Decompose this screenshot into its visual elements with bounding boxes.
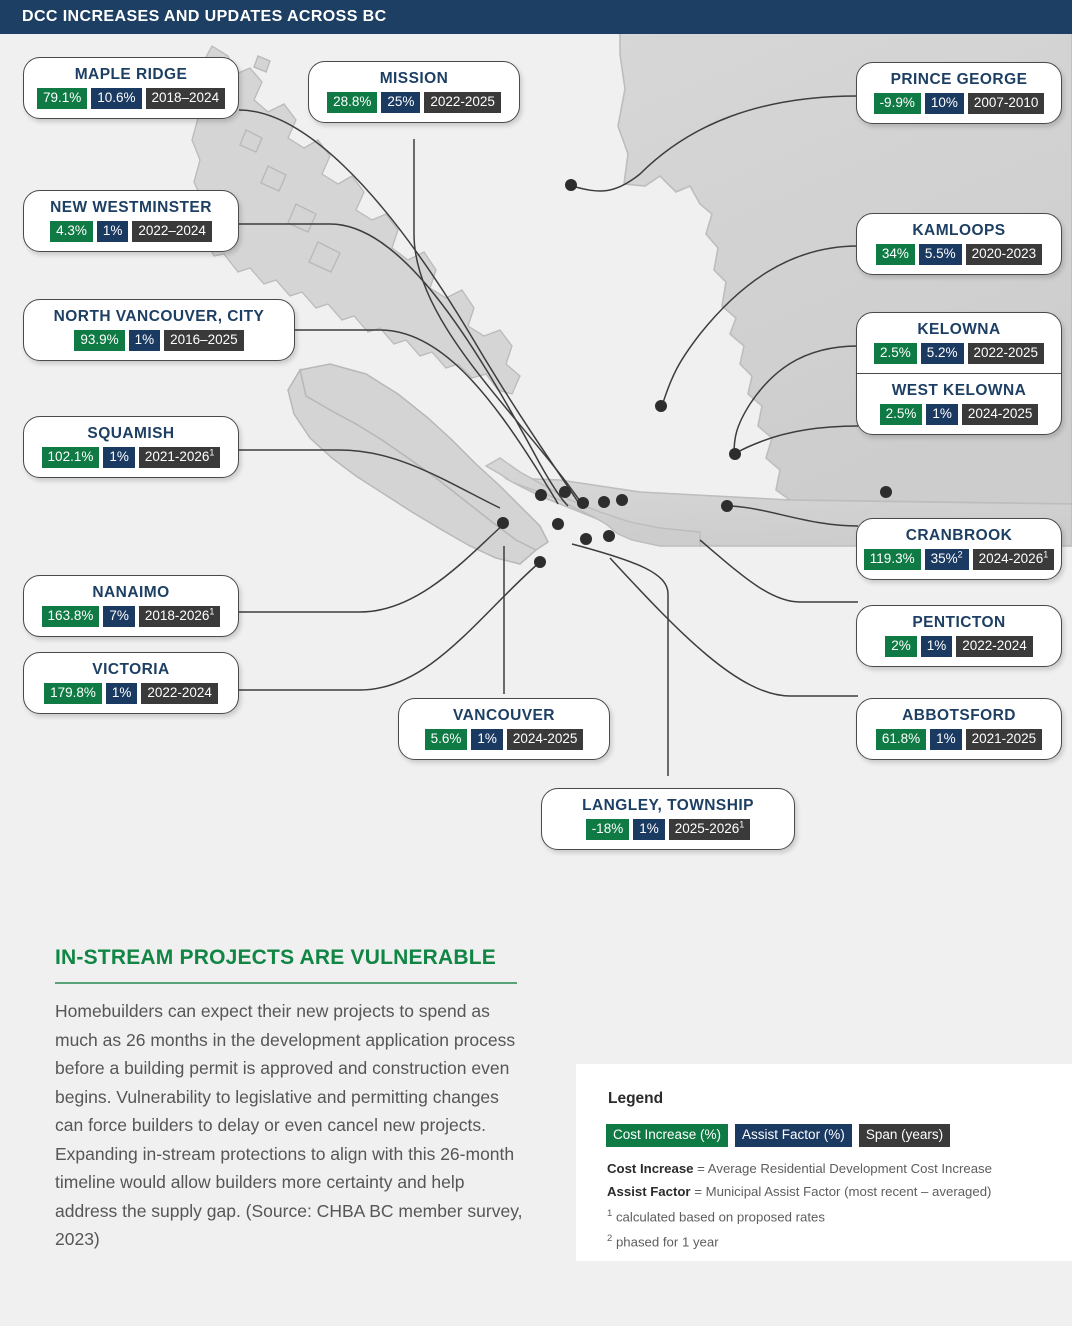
- footnote-marker: 2: [958, 550, 963, 560]
- card-maple-ridge[interactable]: MAPLE RIDGE 79.1% 10.6% 2018–2024: [23, 57, 239, 119]
- card-chips: 163.8% 7% 2018-20261: [38, 606, 224, 627]
- footnote-marker: 1: [739, 820, 744, 830]
- map-dot-e: [616, 494, 628, 506]
- cost-increase-chip: 2.5%: [880, 404, 923, 425]
- card-chips: 4.3% 1% 2022–2024: [38, 221, 224, 242]
- card-abbotsford[interactable]: ABBOTSFORD 61.8% 1% 2021-2025: [856, 698, 1062, 760]
- map-dot-d: [598, 496, 610, 508]
- map-dot-langley: [603, 530, 615, 542]
- card-title: KELOWNA: [871, 320, 1047, 339]
- legend-title: Legend: [608, 1090, 663, 1108]
- map-dot-cranbrook-b: [880, 486, 892, 498]
- span-chip: 2024-2025: [507, 729, 584, 750]
- cost-increase-chip: 34%: [876, 244, 915, 265]
- map-dot-vancouver: [552, 518, 564, 530]
- assist-factor-chip: 7%: [103, 606, 135, 627]
- legend-panel: Legend Cost Increase (%) Assist Factor (…: [576, 1064, 1072, 1261]
- span-chip: 2025-20261: [669, 819, 751, 840]
- cost-increase-chip: 163.8%: [42, 606, 100, 627]
- cost-increase-chip: 93.9%: [74, 330, 124, 351]
- assist-factor-chip: 1%: [106, 683, 138, 704]
- card-langley-township[interactable]: LANGLEY, TOWNSHIP -18% 1% 2025-20261: [541, 788, 795, 850]
- card-title: PRINCE GEORGE: [871, 70, 1047, 89]
- span-chip: 2022–2024: [132, 221, 212, 242]
- legend-footnote-2: 2 phased for 1 year: [607, 1228, 1057, 1253]
- span-chip: 2024-2025: [962, 404, 1039, 425]
- legend-def-cost-increase: Cost Increase = Average Residential Deve…: [607, 1157, 1057, 1180]
- card-title: NANAIMO: [38, 583, 224, 602]
- card-chips: 2% 1% 2022-2024: [871, 636, 1047, 657]
- span-chip: 2007-2010: [968, 93, 1045, 114]
- card-chips: 61.8% 1% 2021-2025: [871, 729, 1047, 750]
- span-chip: 2021-2025: [966, 729, 1043, 750]
- card-chips: 93.9% 1% 2016–2025: [38, 330, 280, 351]
- assist-factor-chip: 5.2%: [921, 343, 964, 364]
- card-title: WEST KELOWNA: [871, 381, 1047, 400]
- assist-factor-chip: 1%: [633, 819, 665, 840]
- assist-factor-chip: 1%: [930, 729, 962, 750]
- map-stage: MAPLE RIDGE 79.1% 10.6% 2018–2024 MISSIO…: [0, 34, 1072, 900]
- span-chip: 2022-2025: [968, 343, 1045, 364]
- card-kamloops[interactable]: KAMLOOPS 34% 5.5% 2020-2023: [856, 213, 1062, 275]
- map-dot-kelowna: [729, 448, 741, 460]
- card-nanaimo[interactable]: NANAIMO 163.8% 7% 2018-20261: [23, 575, 239, 637]
- card-chips: -18% 1% 2025-20261: [556, 819, 780, 840]
- assist-factor-chip: 10.6%: [91, 88, 141, 109]
- map-dot-prince-george: [565, 179, 577, 191]
- assist-factor-chip: 1%: [926, 404, 958, 425]
- card-vancouver[interactable]: VANCOUVER 5.6% 1% 2024-2025: [398, 698, 610, 760]
- assist-factor-chip: 10%: [925, 93, 964, 114]
- legend-footnote-1-text: calculated based on proposed rates: [612, 1209, 825, 1224]
- span-chip: 2021-20261: [139, 447, 221, 468]
- legend-footnote-2-text: phased for 1 year: [612, 1235, 718, 1250]
- cost-increase-chip: 4.3%: [50, 221, 93, 242]
- card-title: MAPLE RIDGE: [38, 65, 224, 84]
- card-chips: -9.9% 10% 2007-2010: [871, 93, 1047, 114]
- card-west-kelowna[interactable]: WEST KELOWNA 2.5% 1% 2024-2025: [857, 373, 1061, 434]
- legend-definitions: Cost Increase = Average Residential Deve…: [607, 1157, 1057, 1254]
- cost-increase-chip: 79.1%: [37, 88, 87, 109]
- map-dot-b: [559, 486, 571, 498]
- card-chips: 28.8% 25% 2022-2025: [323, 92, 505, 113]
- card-title: ABBOTSFORD: [871, 706, 1047, 725]
- footnote-marker: 1: [1043, 550, 1048, 560]
- assist-factor-chip: 1%: [129, 330, 161, 351]
- span-chip: 2018–2024: [146, 88, 226, 109]
- header-bar: DCC INCREASES AND UPDATES ACROSS BC: [0, 0, 1072, 34]
- card-chips: 102.1% 1% 2021-20261: [38, 447, 224, 468]
- card-mission[interactable]: MISSION 28.8% 25% 2022-2025: [308, 61, 520, 123]
- cost-increase-chip: 61.8%: [876, 729, 926, 750]
- legend-def-cost-text: = Average Residential Development Cost I…: [694, 1161, 992, 1176]
- card-title: KAMLOOPS: [871, 221, 1047, 240]
- card-chips: 79.1% 10.6% 2018–2024: [38, 88, 224, 109]
- assist-factor-chip: 1%: [103, 447, 135, 468]
- card-chips: 179.8% 1% 2022-2024: [38, 683, 224, 704]
- assist-factor-chip: 5.5%: [919, 244, 962, 265]
- card-title: NEW WESTMINSTER: [38, 198, 224, 217]
- map-dot-cranbrook: [721, 500, 733, 512]
- legend-def-assist-label: Assist Factor: [607, 1184, 691, 1199]
- legend-footnote-1: 1 calculated based on proposed rates: [607, 1203, 1057, 1228]
- map-dot-c: [577, 497, 589, 509]
- card-kelowna[interactable]: KELOWNA 2.5% 5.2% 2022-2025: [857, 313, 1061, 373]
- card-title: VICTORIA: [38, 660, 224, 679]
- legend-span-chip: Span (years): [859, 1124, 950, 1147]
- legend-chip-row: Cost Increase (%) Assist Factor (%) Span…: [606, 1124, 950, 1147]
- map-dot-victoria: [534, 556, 546, 568]
- span-chip: 2022-2024: [956, 636, 1033, 657]
- cost-increase-chip: 179.8%: [44, 683, 102, 704]
- cost-increase-chip: -18%: [586, 819, 630, 840]
- card-title: PENTICTON: [871, 613, 1047, 632]
- card-penticton[interactable]: PENTICTON 2% 1% 2022-2024: [856, 605, 1062, 667]
- card-title: VANCOUVER: [413, 706, 595, 725]
- legend-cost-increase-chip: Cost Increase (%): [606, 1124, 728, 1147]
- span-chip: 2018-20261: [139, 606, 221, 627]
- card-chips: 2.5% 1% 2024-2025: [871, 404, 1047, 425]
- map-dot-a: [535, 489, 547, 501]
- card-chips: 5.6% 1% 2024-2025: [413, 729, 595, 750]
- cost-increase-chip: 2.5%: [874, 343, 917, 364]
- span-chip: 2022-2025: [424, 92, 501, 113]
- vulnerable-heading: IN-STREAM PROJECTS ARE VULNERABLE: [55, 946, 496, 970]
- bottom-section: IN-STREAM PROJECTS ARE VULNERABLE Homebu…: [0, 900, 1072, 1326]
- cost-increase-chip: 119.3%: [864, 549, 921, 570]
- card-cranbrook[interactable]: CRANBROOK 119.3% 35%2 2024-20261: [856, 518, 1062, 580]
- legend-def-assist-text: = Municipal Assist Factor (most recent –…: [691, 1184, 992, 1199]
- assist-factor-chip: 1%: [471, 729, 503, 750]
- footnote-marker: 1: [209, 607, 214, 617]
- legend-def-cost-label: Cost Increase: [607, 1161, 694, 1176]
- card-title: MISSION: [323, 69, 505, 88]
- cost-increase-chip: 28.8%: [327, 92, 377, 113]
- card-title: LANGLEY, TOWNSHIP: [556, 796, 780, 815]
- card-squamish[interactable]: SQUAMISH 102.1% 1% 2021-20261: [23, 416, 239, 478]
- span-chip: 2022-2024: [141, 683, 218, 704]
- cost-increase-chip: 2%: [885, 636, 917, 657]
- legend-def-assist-factor: Assist Factor = Municipal Assist Factor …: [607, 1180, 1057, 1203]
- footnote-marker: 1: [209, 448, 214, 458]
- assist-factor-chip: 35%2: [925, 549, 969, 570]
- card-title: NORTH VANCOUVER, CITY: [38, 307, 280, 326]
- page-title: DCC INCREASES AND UPDATES ACROSS BC: [22, 8, 387, 26]
- assist-factor-chip: 1%: [97, 221, 129, 242]
- card-chips: 34% 5.5% 2020-2023: [871, 244, 1047, 265]
- vulnerable-body-text: Homebuilders can expect their new projec…: [55, 997, 525, 1254]
- legend-assist-factor-chip: Assist Factor (%): [735, 1124, 852, 1147]
- card-north-vancouver-city[interactable]: NORTH VANCOUVER, CITY 93.9% 1% 2016–2025: [23, 299, 295, 361]
- map-dot-nanaimo: [497, 517, 509, 529]
- card-chips: 119.3% 35%2 2024-20261: [871, 549, 1047, 570]
- card-victoria[interactable]: VICTORIA 179.8% 1% 2022-2024: [23, 652, 239, 714]
- heading-divider: [55, 982, 517, 984]
- span-chip: 2024-20261: [973, 549, 1055, 570]
- span-chip: 2020-2023: [966, 244, 1043, 265]
- cost-increase-chip: 102.1%: [42, 447, 100, 468]
- span-chip: 2016–2025: [164, 330, 244, 351]
- map-dot-abbotsford: [580, 533, 592, 545]
- assist-factor-chip: 25%: [381, 92, 420, 113]
- assist-factor-chip: 1%: [921, 636, 953, 657]
- card-new-westminster[interactable]: NEW WESTMINSTER 4.3% 1% 2022–2024: [23, 190, 239, 252]
- card-kelowna-group[interactable]: KELOWNA 2.5% 5.2% 2022-2025 WEST KELOWNA…: [856, 312, 1062, 435]
- map-dot-kamloops: [655, 400, 667, 412]
- cost-increase-chip: 5.6%: [425, 729, 468, 750]
- card-title: SQUAMISH: [38, 424, 224, 443]
- card-chips: 2.5% 5.2% 2022-2025: [871, 343, 1047, 364]
- cost-increase-chip: -9.9%: [874, 93, 921, 114]
- card-prince-george[interactable]: PRINCE GEORGE -9.9% 10% 2007-2010: [856, 62, 1062, 124]
- card-title: CRANBROOK: [871, 526, 1047, 545]
